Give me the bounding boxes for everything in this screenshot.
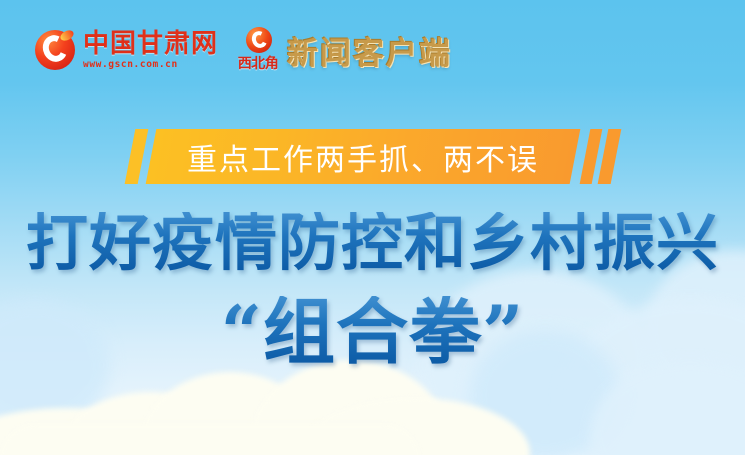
gscn-site-url: www.gscn.com.cn <box>83 60 218 70</box>
cloud-shape <box>0 300 110 430</box>
ribbon-accent-bar-left <box>125 129 149 184</box>
poster-canvas: 中国甘肃网 www.gscn.com.cn 西北角 新闻客户端 重点工作两手抓、… <box>0 0 745 455</box>
gscn-swirl-icon <box>34 28 76 72</box>
headline-line-2: “组合拳” <box>0 296 745 368</box>
xibeijiao-logo[interactable]: 西北角 新闻客户端 <box>236 27 452 73</box>
headline-line-1: 打好疫情防控和乡村振兴 <box>0 212 745 274</box>
cloud-shape <box>420 270 650 455</box>
cloud-shape <box>560 300 745 455</box>
gscn-site-name: 中国甘肃网 <box>83 31 218 57</box>
cloud-shape <box>470 330 620 455</box>
ribbon-accent-bar-right-outer <box>598 129 622 184</box>
cloud-shape <box>140 372 320 455</box>
cloud-shape <box>645 250 745 410</box>
headline-block: 打好疫情防控和乡村振兴 “组合拳” <box>0 212 745 368</box>
cloud-shape <box>300 398 530 455</box>
cloud-shape <box>60 392 240 455</box>
cloud-shape <box>0 408 190 455</box>
kicker-ribbon: 重点工作两手抓、两不误 <box>0 129 745 184</box>
news-client-title: 新闻客户端 <box>287 28 452 73</box>
gscn-logo[interactable]: 中国甘肃网 www.gscn.com.cn <box>34 28 218 72</box>
xibeijiao-seal-icon: 西北角 <box>236 27 280 73</box>
cloud-shape <box>590 360 745 455</box>
ribbon-label: 重点工作两手抓、两不误 <box>151 129 575 184</box>
cloud-shape <box>0 424 420 455</box>
gscn-logo-text: 中国甘肃网 www.gscn.com.cn <box>83 31 218 70</box>
header-logo-bar: 中国甘肃网 www.gscn.com.cn 西北角 新闻客户端 <box>34 25 452 75</box>
cloud-shape <box>250 360 450 455</box>
xibeijiao-seal-text: 西北角 <box>236 53 280 73</box>
